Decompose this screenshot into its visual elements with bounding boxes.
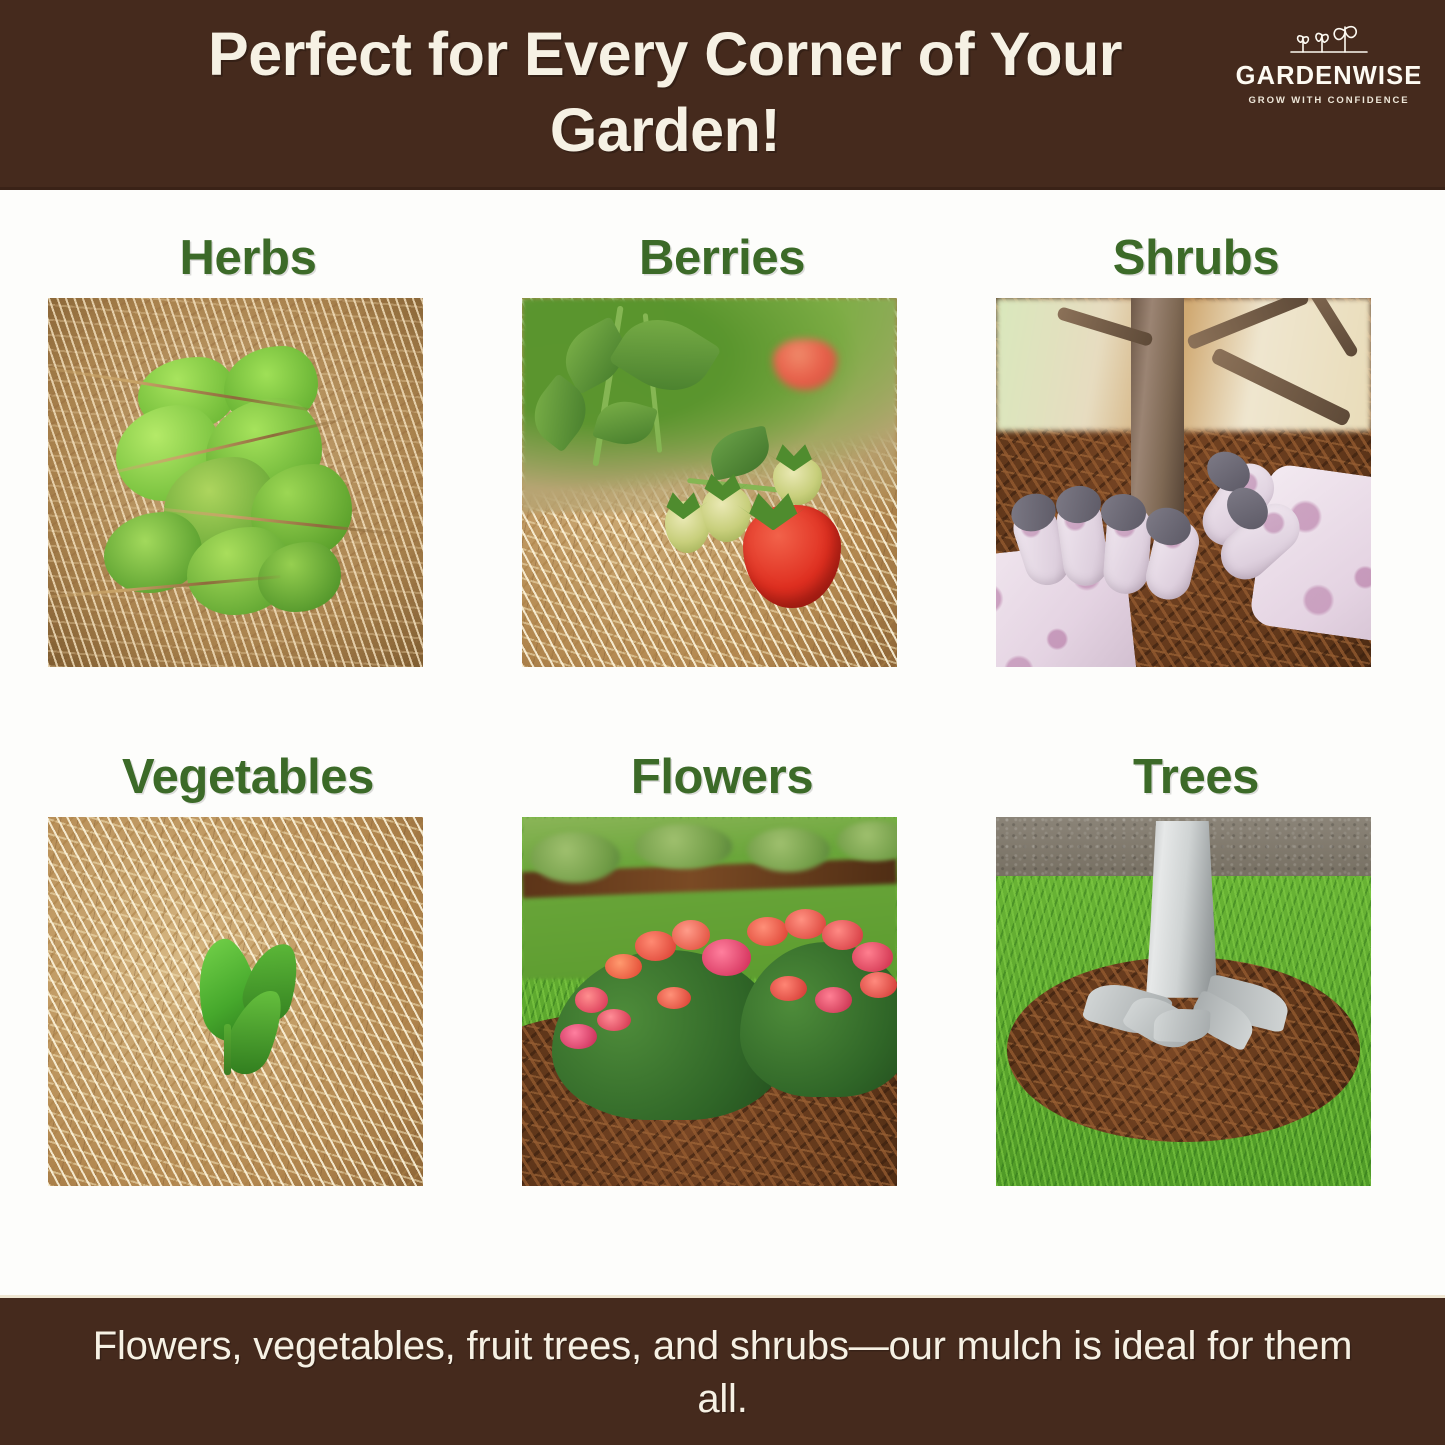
seedling-stem	[224, 1024, 231, 1076]
straw-strand	[48, 363, 324, 413]
logo-wordmark: GARDENWISE	[1231, 64, 1427, 90]
seedling-group	[48, 817, 423, 1186]
straw-strands-overlay	[48, 298, 423, 667]
page-title: Perfect for Every Corner of Your Garden!	[110, 16, 1220, 169]
rose-bloom	[815, 987, 853, 1013]
footer-text: Flowers, vegetables, fruit trees, and sh…	[90, 1320, 1355, 1426]
leaf	[706, 425, 774, 481]
cell-label-herbs: Herbs	[23, 218, 473, 298]
header-banner: Perfect for Every Corner of Your Garden!…	[0, 0, 1445, 190]
leaf	[608, 302, 721, 409]
footer-banner: Flowers, vegetables, fruit trees, and sh…	[0, 1295, 1445, 1445]
rose-bloom	[597, 1009, 631, 1031]
grid-cell-vegetables: Vegetables	[23, 737, 473, 1186]
rose-bloom	[672, 920, 710, 950]
strawberry-plant-group	[522, 298, 897, 667]
grid-cell-trees: Trees	[971, 737, 1421, 1186]
grid-cell-flowers: Flowers	[497, 737, 947, 1186]
rose-bloom	[605, 954, 643, 980]
rose-bloom	[635, 931, 676, 961]
cell-label-trees: Trees	[971, 737, 1421, 817]
rose-bloom	[575, 987, 609, 1013]
trees-photo	[996, 817, 1371, 1186]
herbs-photo	[48, 298, 423, 667]
blurred-strawberry	[773, 339, 837, 391]
cell-label-flowers: Flowers	[497, 737, 947, 817]
rose-bloom	[785, 909, 826, 939]
grid-cell-berries: Berries	[497, 218, 947, 667]
flowers-photo	[522, 817, 897, 1186]
brand-logo: GARDENWISE GROW WITH CONFIDENCE	[1231, 18, 1427, 118]
use-case-grid: Herbs	[0, 190, 1445, 1295]
vegetables-photo	[48, 817, 423, 1186]
seedling-sprouts-icon	[1269, 18, 1389, 62]
rose-bush-group	[522, 817, 897, 1186]
grid-cell-herbs: Herbs	[23, 218, 473, 667]
straw-strand	[139, 506, 400, 536]
rose-bloom	[702, 939, 751, 976]
rose-bloom	[747, 917, 788, 947]
berries-photo	[522, 298, 897, 667]
ripe-strawberry	[743, 505, 841, 608]
straw-strand	[48, 575, 280, 600]
gardening-gloves-group	[996, 298, 1371, 667]
grid-cell-shrubs: Shrubs	[971, 218, 1421, 667]
tree-trunk	[1146, 821, 1217, 998]
straw-strand	[89, 415, 353, 479]
cell-label-berries: Berries	[497, 218, 947, 298]
rose-bloom	[860, 972, 898, 998]
logo-tagline: GROW WITH CONFIDENCE	[1231, 96, 1427, 106]
rose-bloom	[852, 942, 893, 972]
cell-label-shrubs: Shrubs	[971, 218, 1421, 298]
rose-bloom	[657, 987, 691, 1009]
cell-label-vegetables: Vegetables	[23, 737, 473, 817]
shrubs-photo	[996, 298, 1371, 667]
infographic-page: Perfect for Every Corner of Your Garden!…	[0, 0, 1445, 1445]
